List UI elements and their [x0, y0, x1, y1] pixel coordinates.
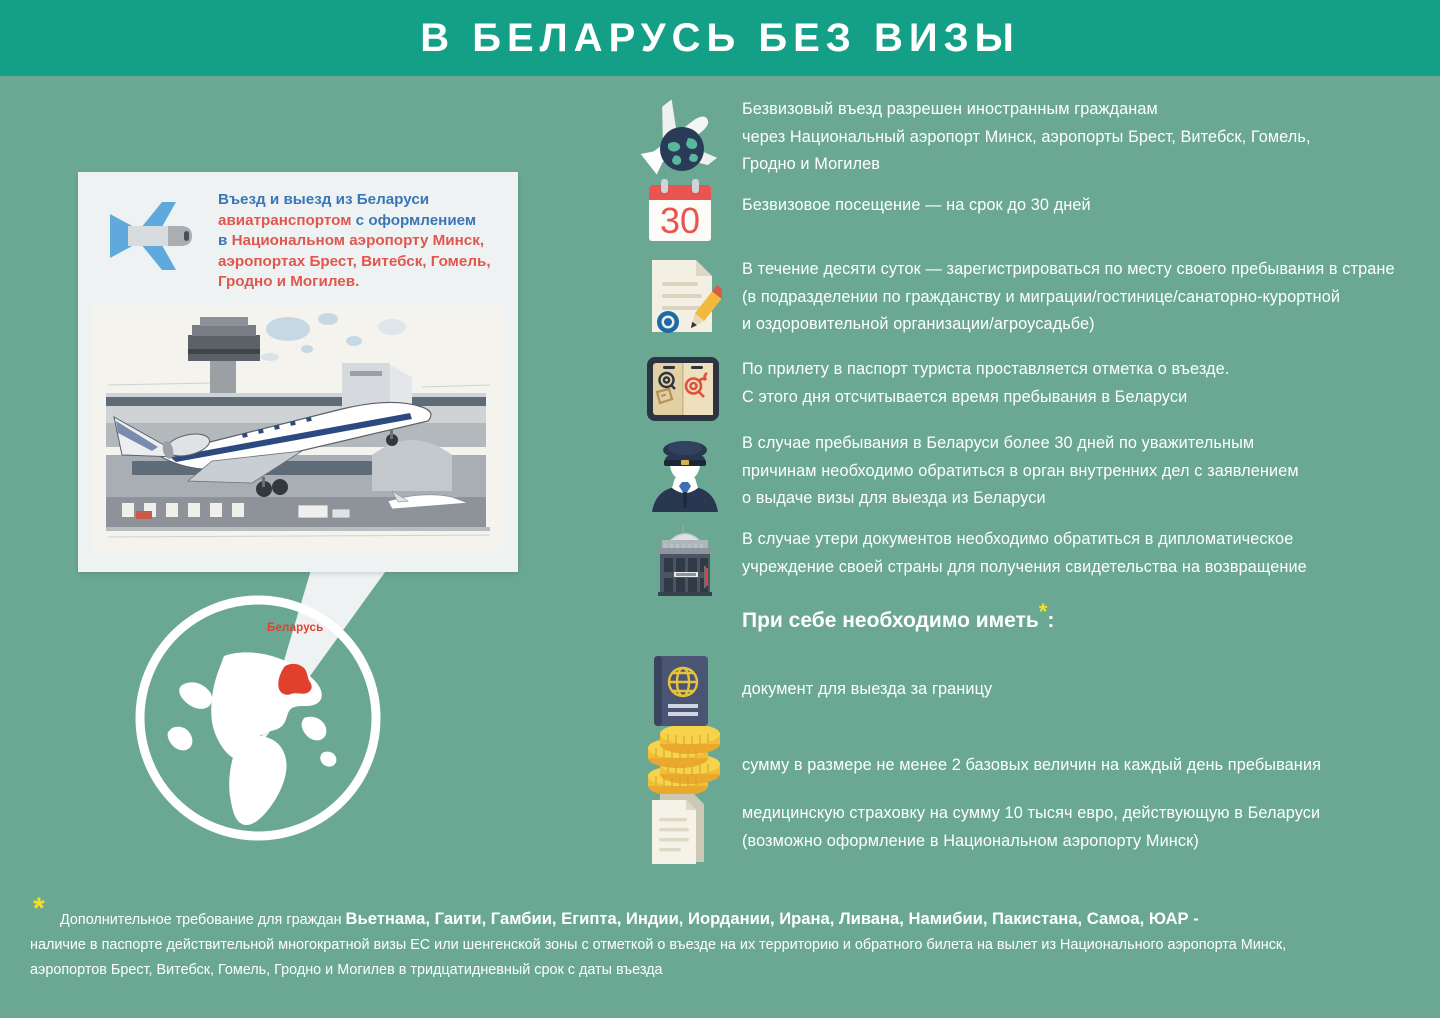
footnote-rest: наличие в паспорте действительной многок… — [30, 937, 1286, 978]
footnote-text: Дополнительное требование для граждан Вь… — [30, 906, 1425, 983]
airport-photo — [92, 305, 504, 552]
right-column: Безвизовый въезд разрешен иностранным гр… — [630, 76, 1440, 866]
airport-info-card: Въезд и выезд из Беларуси авиатранспорто… — [78, 172, 518, 572]
bullet-text: Безвизовый въезд разрешен иностранным гр… — [742, 96, 1440, 179]
need-item-text: сумму в размере не менее 2 базовых велич… — [742, 752, 1440, 780]
insurance-papers-icon — [648, 792, 716, 866]
footnote-countries: Вьетнама, Гаити, Гамбии, Египта, Индии, … — [346, 909, 1189, 928]
calendar-30-icon: 30 — [645, 179, 715, 245]
coins-stack-icon — [644, 726, 722, 800]
need-title-colon: : — [1047, 609, 1054, 632]
belarus-label: Беларусь — [267, 622, 323, 634]
card-text-line3-blue: в — [218, 232, 232, 249]
bullet-text: Безвизовое посещение — на срок до 30 дне… — [742, 192, 1440, 220]
card-text-line4: аэропортах Брест, Витебск, Гомель, — [218, 253, 491, 270]
card-text-line3-red: Национальном аэропорту Минск, — [232, 232, 485, 249]
footnote-dash: - — [1189, 909, 1199, 928]
need-section-title: При себе необходимо иметь*: — [742, 609, 1054, 633]
calendar-day-number: 30 — [660, 200, 700, 241]
bullet-text: В случае утери документов необходимо обр… — [742, 526, 1440, 581]
embassy-building-icon — [646, 526, 724, 596]
plane-globe-icon — [638, 96, 724, 182]
footnote: * Дополнительное требование для граждан … — [0, 884, 1440, 1018]
card-text-line2-red: авиатранспортом — [218, 212, 351, 229]
card-text-line5: Гродно и Могилев. — [218, 273, 359, 290]
page-header: В БЕЛАРУСЬ БЕЗ ВИЗЫ — [0, 0, 1440, 76]
footnote-lead: Дополнительное требование для граждан — [60, 912, 346, 928]
border-officer-icon — [646, 434, 724, 514]
need-title-text: При себе необходимо иметь — [742, 609, 1039, 632]
bullet-text: По прилету в паспорт туриста проставляет… — [742, 356, 1440, 411]
bullet-text: В случае пребывания в Беларуси более 30 … — [742, 430, 1440, 513]
airplane-icon — [106, 194, 206, 278]
need-item-text: документ для выезда за границу — [742, 676, 1440, 704]
passport-stamp-icon — [646, 356, 720, 422]
page-title: В БЕЛАРУСЬ БЕЗ ВИЗЫ — [420, 18, 1020, 58]
card-text-line1: Въезд и выезд из Беларуси — [218, 191, 429, 208]
left-column: Въезд и выезд из Беларуси авиатранспорто… — [0, 76, 620, 866]
bullet-text: В течение десяти суток — зарегистрироват… — [742, 256, 1440, 339]
passport-icon — [652, 654, 710, 728]
globe-illustration: Беларусь — [128, 588, 388, 848]
globe-icon — [128, 588, 388, 848]
document-signature-icon — [642, 256, 722, 338]
card-text: Въезд и выезд из Беларуси авиатранспорто… — [218, 190, 508, 293]
need-item-text: медицинскую страховку на сумму 10 тысяч … — [742, 800, 1440, 855]
card-text-line2-blue: с оформлением — [351, 212, 476, 229]
